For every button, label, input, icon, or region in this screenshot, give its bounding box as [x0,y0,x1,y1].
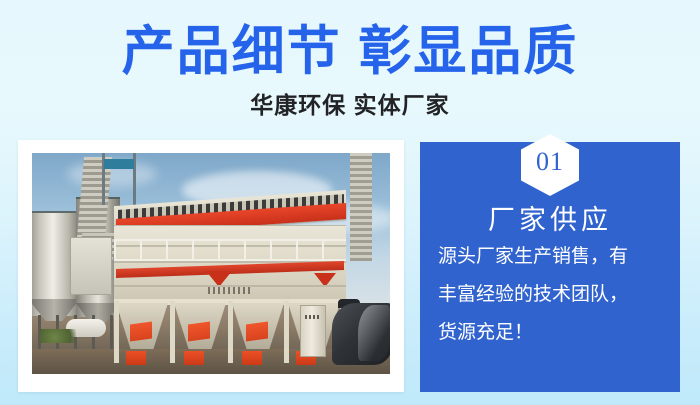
hexagon-badge-icon: 01 [521,134,579,196]
info-panel-heading: 厂家供应 [420,198,680,237]
photo-equipment-label [208,287,252,294]
badge-number: 01 [536,149,564,181]
photo-support-leg [170,301,175,363]
photo-orange-panel [246,321,268,341]
page-subtitle: 华康环保 实体厂家 [0,90,700,120]
page-header: 产品细节 彰显品质 华康环保 实体厂家 [0,0,700,120]
photo-support-leg [114,301,119,363]
photo-tower-cap [104,159,134,169]
photo-greenery [40,329,76,343]
photo-tank-highlight [358,305,390,361]
product-photo[interactable] [32,153,390,374]
photo-orange-base [126,351,146,365]
photo-support-leg [228,301,233,363]
photo-control-cabinet [300,305,326,357]
photo-cabinet-label [305,315,320,319]
photo-orange-base [184,351,204,365]
photo-orange-panel [130,321,152,341]
content-row: 01 厂家供应 源头厂家生产销售，有 丰富经验的技术团队， 货源充足！ [0,138,700,393]
product-photo-card[interactable] [18,140,404,392]
info-panel-line: 源头厂家生产销售，有 [438,238,664,276]
info-panel-line: 丰富经验的技术团队， [438,276,664,314]
photo-rail-posts [114,239,346,261]
info-panel: 01 厂家供应 源头厂家生产销售，有 丰富经验的技术团队， 货源充足！ [420,142,680,392]
info-panel-line: 货源充足！ [438,314,664,352]
page-title: 产品细节 彰显品质 [0,22,700,82]
info-panel-body: 源头厂家生产销售，有 丰富经验的技术团队， 货源充足！ [438,238,664,352]
photo-duct [350,153,372,261]
photo-support-leg [284,301,289,363]
photo-orange-base [242,351,262,365]
photo-duct-box [70,237,112,295]
photo-orange-panel [188,321,210,341]
